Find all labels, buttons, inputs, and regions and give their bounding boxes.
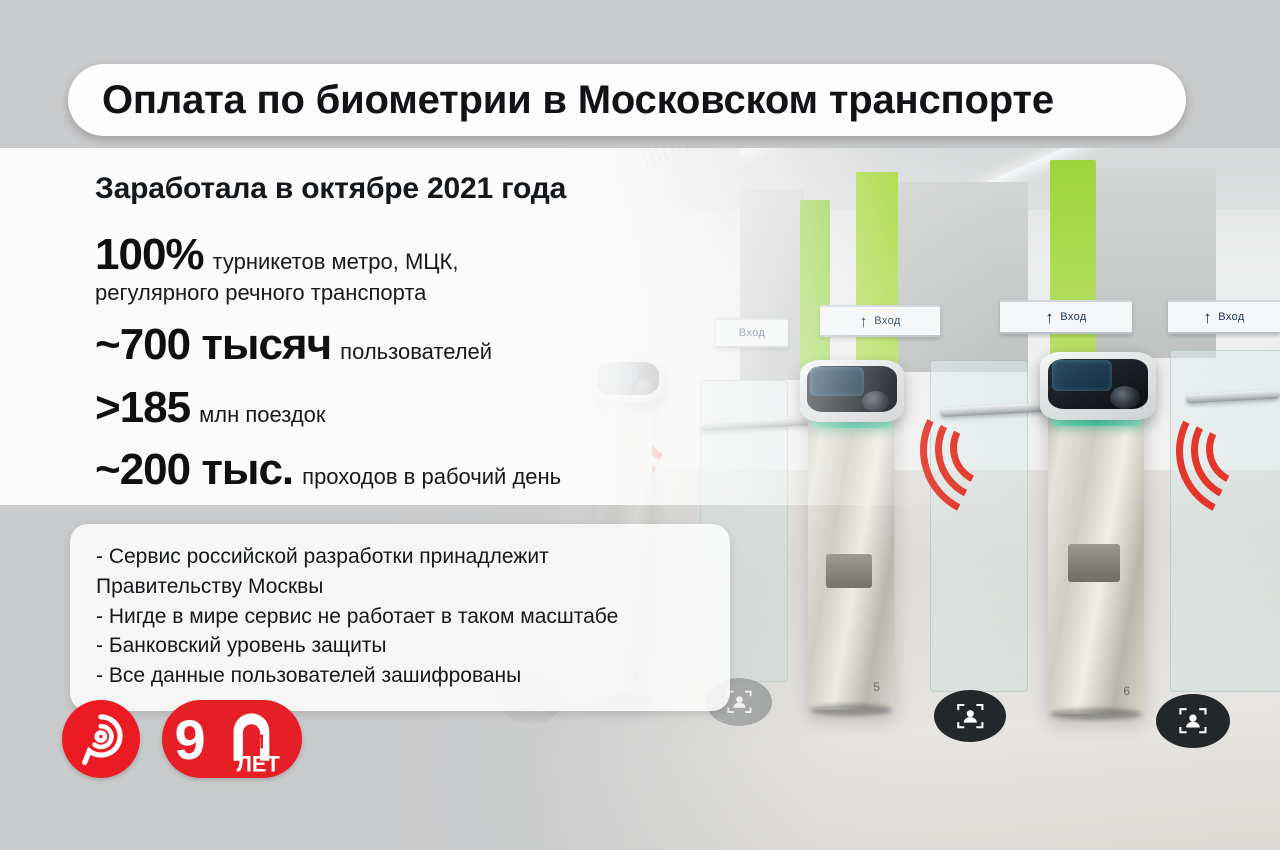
logo-row: 9 М ЛЕТ <box>62 700 302 778</box>
stat-row-users: ~700 тысяч пользователей <box>95 322 855 369</box>
stat-row-trips: >185 млн поездок <box>95 385 855 432</box>
stat-label-trips: млн поездок <box>199 402 325 428</box>
stat-value-daily: ~200 тыс. <box>95 447 293 494</box>
list-item: - Банковский уровень защиты <box>96 631 704 661</box>
stat-label-coverage: турникетов метро, МЦК, <box>213 249 459 275</box>
stat-row-daily: ~200 тыс. проходов в рабочий день <box>95 447 855 494</box>
stats-subheading: Заработала в октябре 2021 года <box>95 172 855 206</box>
page-title: Оплата по биометрии в Московском транспо… <box>102 80 1054 120</box>
notes-panel: - Сервис российской разработки принадлеж… <box>70 524 730 711</box>
metro-90-years-logo: 9 М ЛЕТ <box>162 700 302 778</box>
svg-text:ЛЕТ: ЛЕТ <box>237 752 281 777</box>
stats-block: Заработала в октябре 2021 года 100% турн… <box>95 172 855 502</box>
list-item: - Все данные пользователей зашифрованы <box>96 661 704 691</box>
moscow-transport-logo-icon <box>62 700 140 778</box>
stat-label-users: пользователей <box>340 339 492 365</box>
list-item: - Сервис российской разработки принадлеж… <box>96 542 704 602</box>
stat-row-coverage: 100% турникетов метро, МЦК, регулярного … <box>95 232 855 306</box>
infographic-poster: Вход ↑ Вход ↑ Вход ↑ Вход <box>0 0 1280 850</box>
metro-letter: М <box>248 731 265 753</box>
notes-list: - Сервис российской разработки принадлеж… <box>96 542 704 691</box>
list-item: - Нигде в мире сервис не работает в тако… <box>96 602 704 632</box>
stat-value-trips: >185 <box>95 385 190 432</box>
stat-value-users: ~700 тысяч <box>95 322 331 369</box>
stat-value-coverage: 100% <box>95 232 204 279</box>
stat-label-coverage-line2: регулярного речного транспорта <box>95 279 855 307</box>
svg-text:9: 9 <box>174 708 205 771</box>
stat-label-daily: проходов в рабочий день <box>302 464 561 490</box>
title-pill: Оплата по биометрии в Московском транспо… <box>68 64 1186 136</box>
